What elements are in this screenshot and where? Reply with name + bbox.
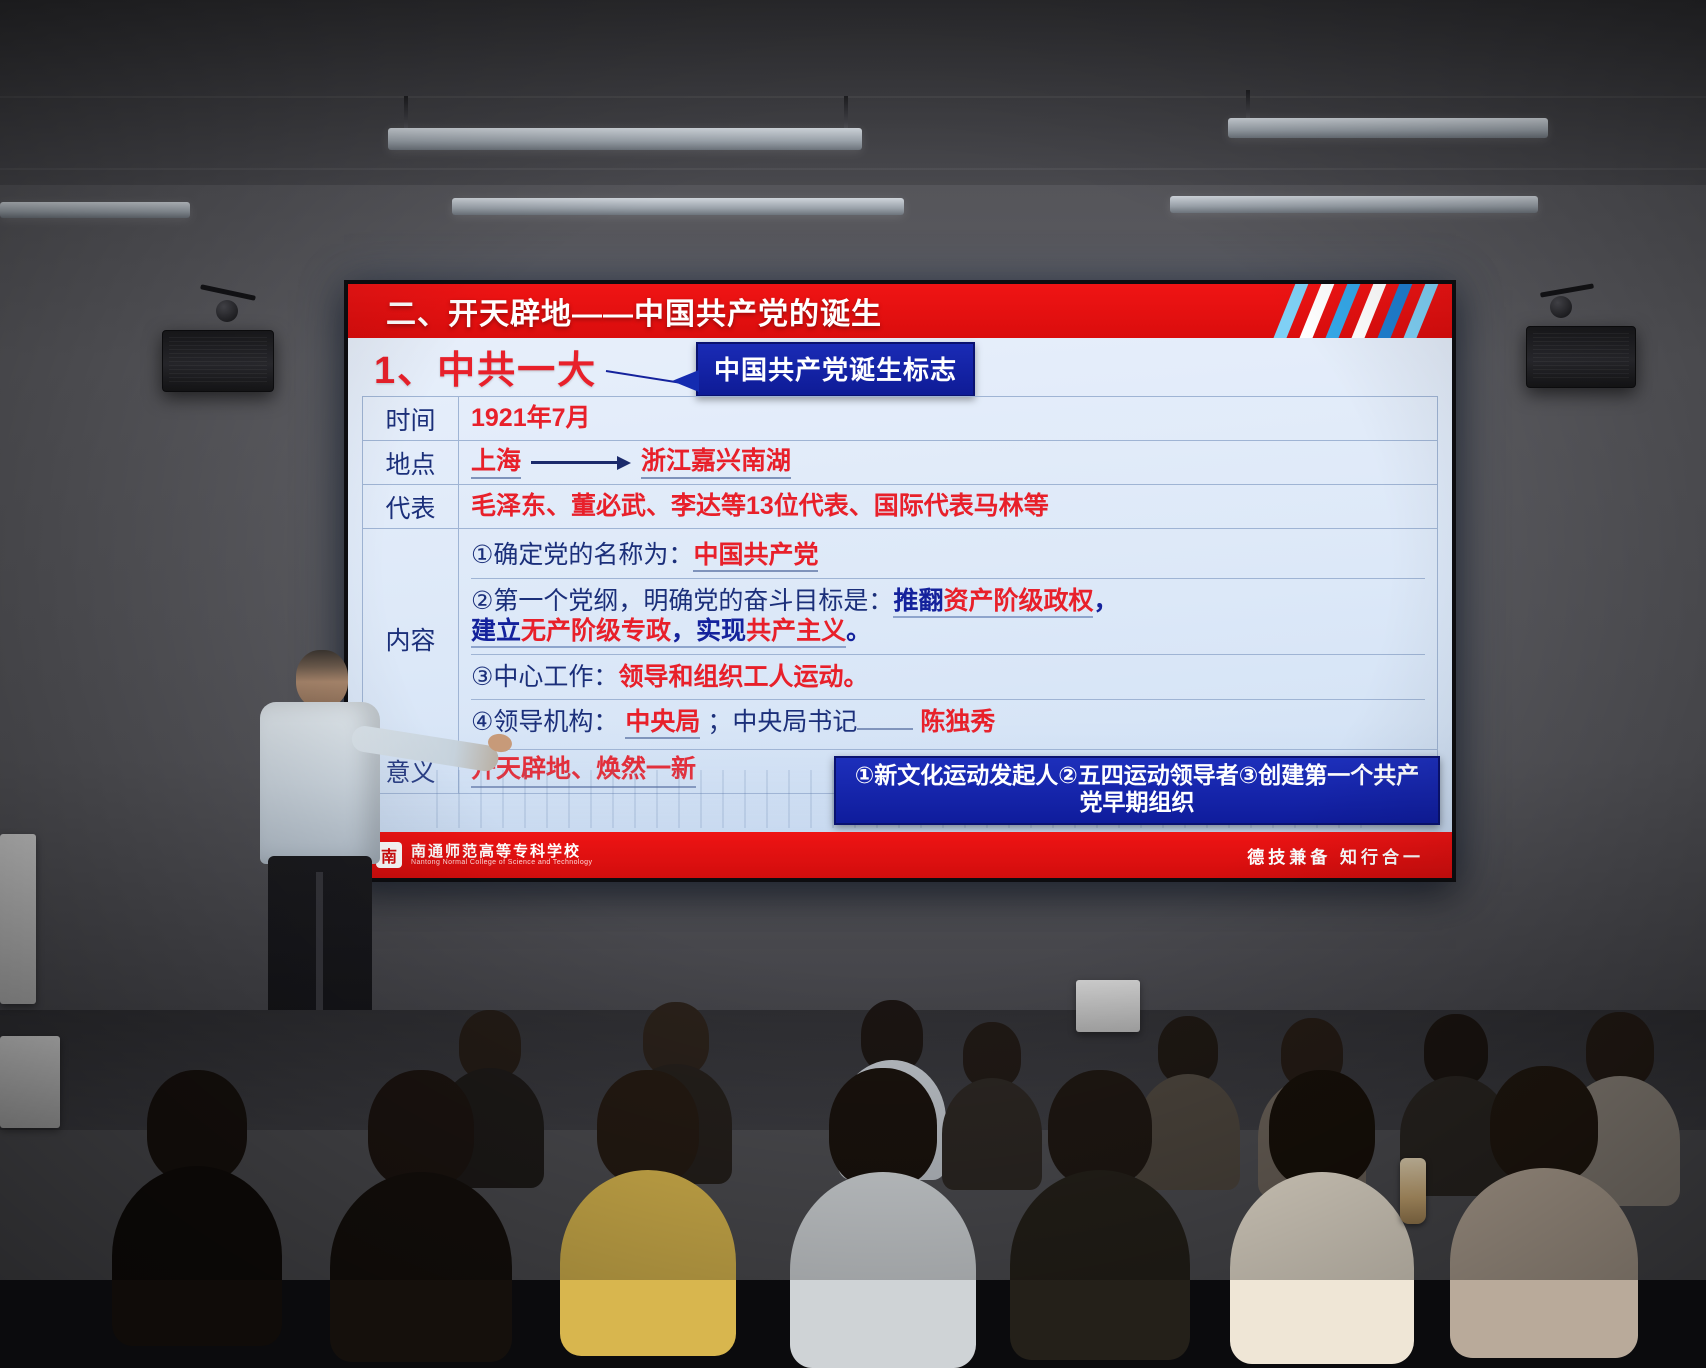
lamp-rod [404,96,408,130]
slide-headline: 1、中共一大 [374,340,597,392]
ceiling-lamp [452,198,904,215]
ceiling-line [0,168,1706,170]
ceiling-lamp [1228,118,1548,138]
table-row: 地点 上海 浙江嘉兴南湖 [363,441,1438,485]
item1-marker: ① [471,541,493,569]
ceiling-speaker-right [1526,326,1636,388]
annotation-text: ①新文化运动发起人②五四运动领导者③创建第一个共产党早期组织 [855,762,1419,815]
content-item-2: ②第一个党纲，明确党的奋斗目标是：推翻资产阶级政权， 建立无产阶级专政，实现共产… [471,578,1425,654]
audience-rows [0,860,1706,1280]
row-label-time: 时间 [363,397,459,440]
content-item-1: ①确定党的名称为：中国共产党 [471,533,1425,578]
lecture-hall-scene: 二、开天辟地——中国共产党的诞生 1、中共一大 中国共产党诞生标志 [0,0,1706,1280]
table-row: 代表 毛泽东、董必武、李达等13位代表、国际代表马林等 [363,485,1438,529]
row-label-place: 地点 [363,441,459,484]
water-bottle [1400,1158,1426,1224]
item2-red-2: 无产阶级专政 [521,617,671,648]
place-from: 上海 [471,446,521,480]
lamp-rod [844,96,848,130]
item2-blue-3: 实现 [696,617,746,648]
arrow-right-icon [531,456,631,470]
content-item-3: ③中心工作：领导和组织工人运动。 [471,654,1425,700]
item2-marker: ② [471,587,493,615]
upper-wall [0,0,1706,200]
student-silhouette [1230,1070,1414,1302]
student-silhouette [1450,1066,1638,1294]
annotation-box: ①新文化运动发起人②五四运动领导者③创建第一个共产党早期组织 [834,756,1440,825]
item2-period: 。 [846,617,871,645]
item2-comma-1: ， [1093,587,1118,615]
place-to: 浙江嘉兴南湖 [641,446,791,480]
item2-red-3: 共产主义 [746,617,846,648]
ceiling-lamp [1170,196,1538,213]
ceiling-lamp [388,128,862,150]
student-silhouette [1010,1070,1190,1298]
ceiling-speaker-left [162,330,274,392]
row-value-content: ①确定党的名称为：中国共产党 ②第一个党纲，明确党的奋斗目标是：推翻资产阶级政权… [459,529,1438,749]
student-silhouette [330,1070,512,1300]
banner-stripes-decoration [1262,284,1452,338]
headline-text: 1、中共一大 [374,339,597,394]
speaker-mount [1550,296,1572,318]
speaker-grill [169,337,267,385]
slide-banner: 二、开天辟地——中国共产党的诞生 [348,284,1452,338]
table-row: 内容 ①确定党的名称为：中国共产党 ②第一个党纲，明确党的奋斗目标是：推翻资产阶… [363,529,1438,750]
banner-title: 二、开天辟地——中国共产党的诞生 [386,289,882,333]
item2-blue-1: 推翻 [893,587,943,618]
delegates-value: 毛泽东、董必武、李达等13位代表、国际代表马林等 [471,491,1049,522]
item2-comma-2: ， [671,617,696,648]
item1-lead: 确定党的名称为： [493,541,693,569]
row-value-delegates: 毛泽东、董必武、李达等13位代表、国际代表马林等 [459,485,1438,528]
table-row: 时间 1921年7月 [363,397,1438,441]
callout-text: 中国共产党诞生标志 [714,355,957,385]
ceiling-lamp [0,202,190,218]
row-label-delegates: 代表 [363,485,459,528]
presenter-head [296,650,348,708]
student-silhouette [790,1068,976,1304]
student-silhouette [560,1070,736,1296]
item3-emphasis: 领导和组织工人运动。 [618,663,868,691]
item2-red-1: 资产阶级政权 [943,587,1093,618]
item1-emphasis: 中国共产党 [693,541,818,572]
time-value: 1921年7月 [471,403,591,434]
ceiling-line [0,96,1706,98]
item2-lead: 第一个党纲，明确党的奋斗目标是： [493,587,893,615]
row-value-time: 1921年7月 [459,397,1438,440]
row-value-place: 上海 浙江嘉兴南湖 [459,441,1438,484]
callout-box: 中国共产党诞生标志 [696,342,975,397]
speaker-grill [1533,333,1629,381]
speaker-mount [216,300,238,322]
lamp-rod [1246,90,1250,120]
student-silhouette [112,1070,282,1290]
item2-blue-2: 建立 [471,617,521,648]
